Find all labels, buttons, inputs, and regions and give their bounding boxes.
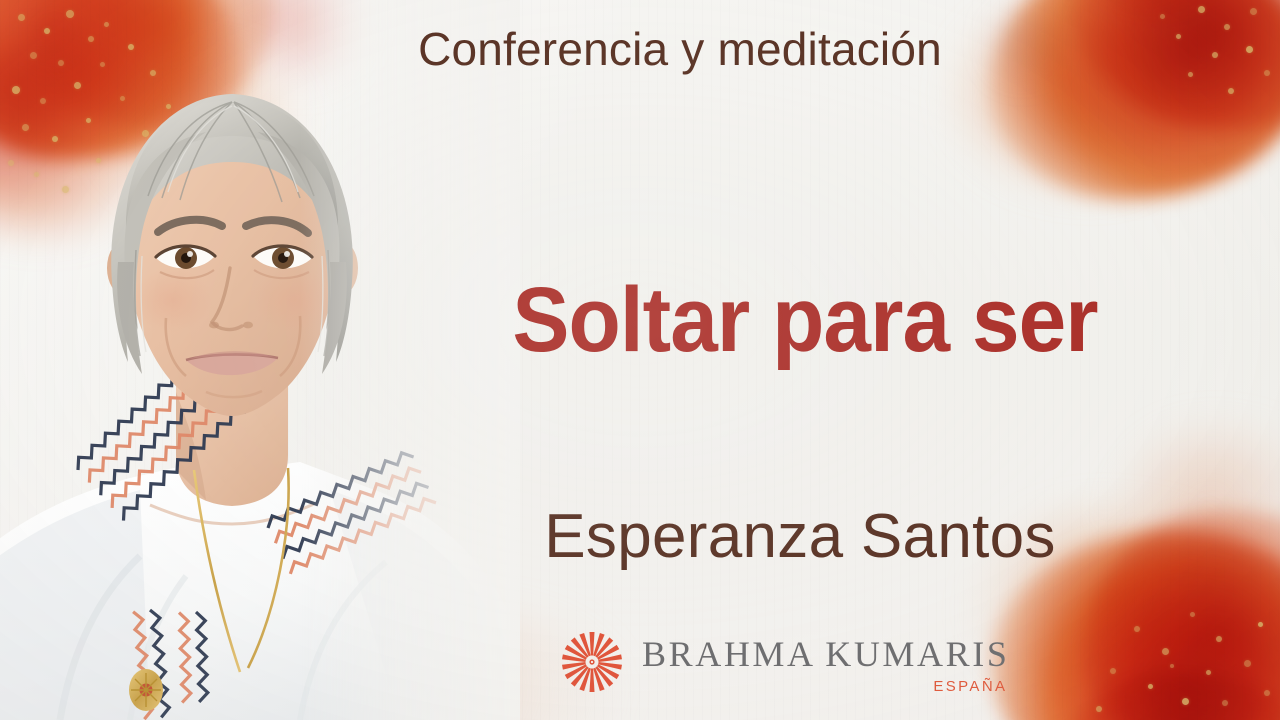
gold-speckle [1096, 706, 1102, 712]
gold-speckle [104, 22, 109, 27]
presentation-slide: Conferencia y meditación Soltar para ser… [0, 0, 1280, 720]
gold-speckle [1176, 34, 1181, 39]
portrait-blouse [0, 462, 520, 720]
gold-speckle [1198, 6, 1205, 13]
gold-speckle [52, 136, 58, 142]
speaker-portrait [0, 0, 520, 720]
gold-speckle [74, 82, 81, 89]
gold-speckle [12, 86, 20, 94]
gold-speckle [1216, 636, 1222, 642]
gold-speckle [66, 10, 74, 18]
portrait-head [107, 112, 358, 416]
gold-speckle [1212, 52, 1218, 58]
gold-speckle [1110, 668, 1116, 674]
logo-wordmark: BRAHMA KUMARIS [642, 636, 1009, 672]
brahma-kumaris-logo: BRAHMA KUMARIS ESPAÑA [560, 628, 960, 708]
gold-speckle [1134, 626, 1140, 632]
logo-country-label: ESPAÑA [933, 679, 1007, 694]
gold-speckle [166, 104, 171, 109]
gold-speckle [34, 172, 39, 177]
gold-speckle [1148, 684, 1153, 689]
gold-speckle [1182, 698, 1189, 705]
gold-speckle [100, 62, 105, 67]
sunburst-icon [560, 630, 624, 694]
gold-speckle [1224, 24, 1230, 30]
gold-speckle [18, 14, 25, 21]
watercolor-splash-top-left [0, 0, 360, 250]
gold-speckle [1264, 70, 1270, 76]
speaker-name: Esperanza Santos [450, 503, 1150, 571]
portrait-mouth [186, 351, 278, 375]
gold-speckle [1246, 46, 1253, 53]
gold-speckle [58, 60, 64, 66]
portrait-embroidery [72, 343, 436, 719]
gold-speckle [150, 70, 156, 76]
gold-speckle [1222, 700, 1228, 706]
gold-speckle [1188, 72, 1193, 77]
gold-speckle [22, 124, 29, 131]
gold-speckle [120, 96, 125, 101]
gold-speckle [1162, 648, 1169, 655]
gold-speckle [1244, 660, 1251, 667]
gold-speckle [96, 158, 101, 163]
portrait-eyes [156, 246, 312, 278]
gold-speckle [1190, 612, 1195, 617]
gold-speckle [176, 146, 182, 152]
gold-speckle [1264, 690, 1270, 696]
slide-title: Soltar para ser [447, 272, 1163, 369]
gold-speckle [30, 52, 37, 59]
gold-speckle [1250, 8, 1257, 15]
gold-speckle [1228, 88, 1234, 94]
gold-speckle [8, 160, 14, 166]
gold-speckle [62, 186, 69, 193]
portrait-necklace [129, 468, 289, 711]
portrait-hair [111, 94, 353, 374]
gold-speckle [1160, 14, 1165, 19]
gold-speckle [88, 36, 94, 42]
gold-speckle [44, 28, 50, 34]
gold-speckle [128, 44, 134, 50]
portrait-neck [150, 380, 314, 524]
gold-speckle [1206, 670, 1211, 675]
slide-kicker: Conferencia y meditación [330, 24, 1030, 75]
gold-speckle [1170, 664, 1174, 668]
gold-speckle [142, 130, 149, 137]
gold-speckle [1258, 622, 1263, 627]
gold-speckle [86, 118, 91, 123]
gold-speckle [40, 98, 46, 104]
